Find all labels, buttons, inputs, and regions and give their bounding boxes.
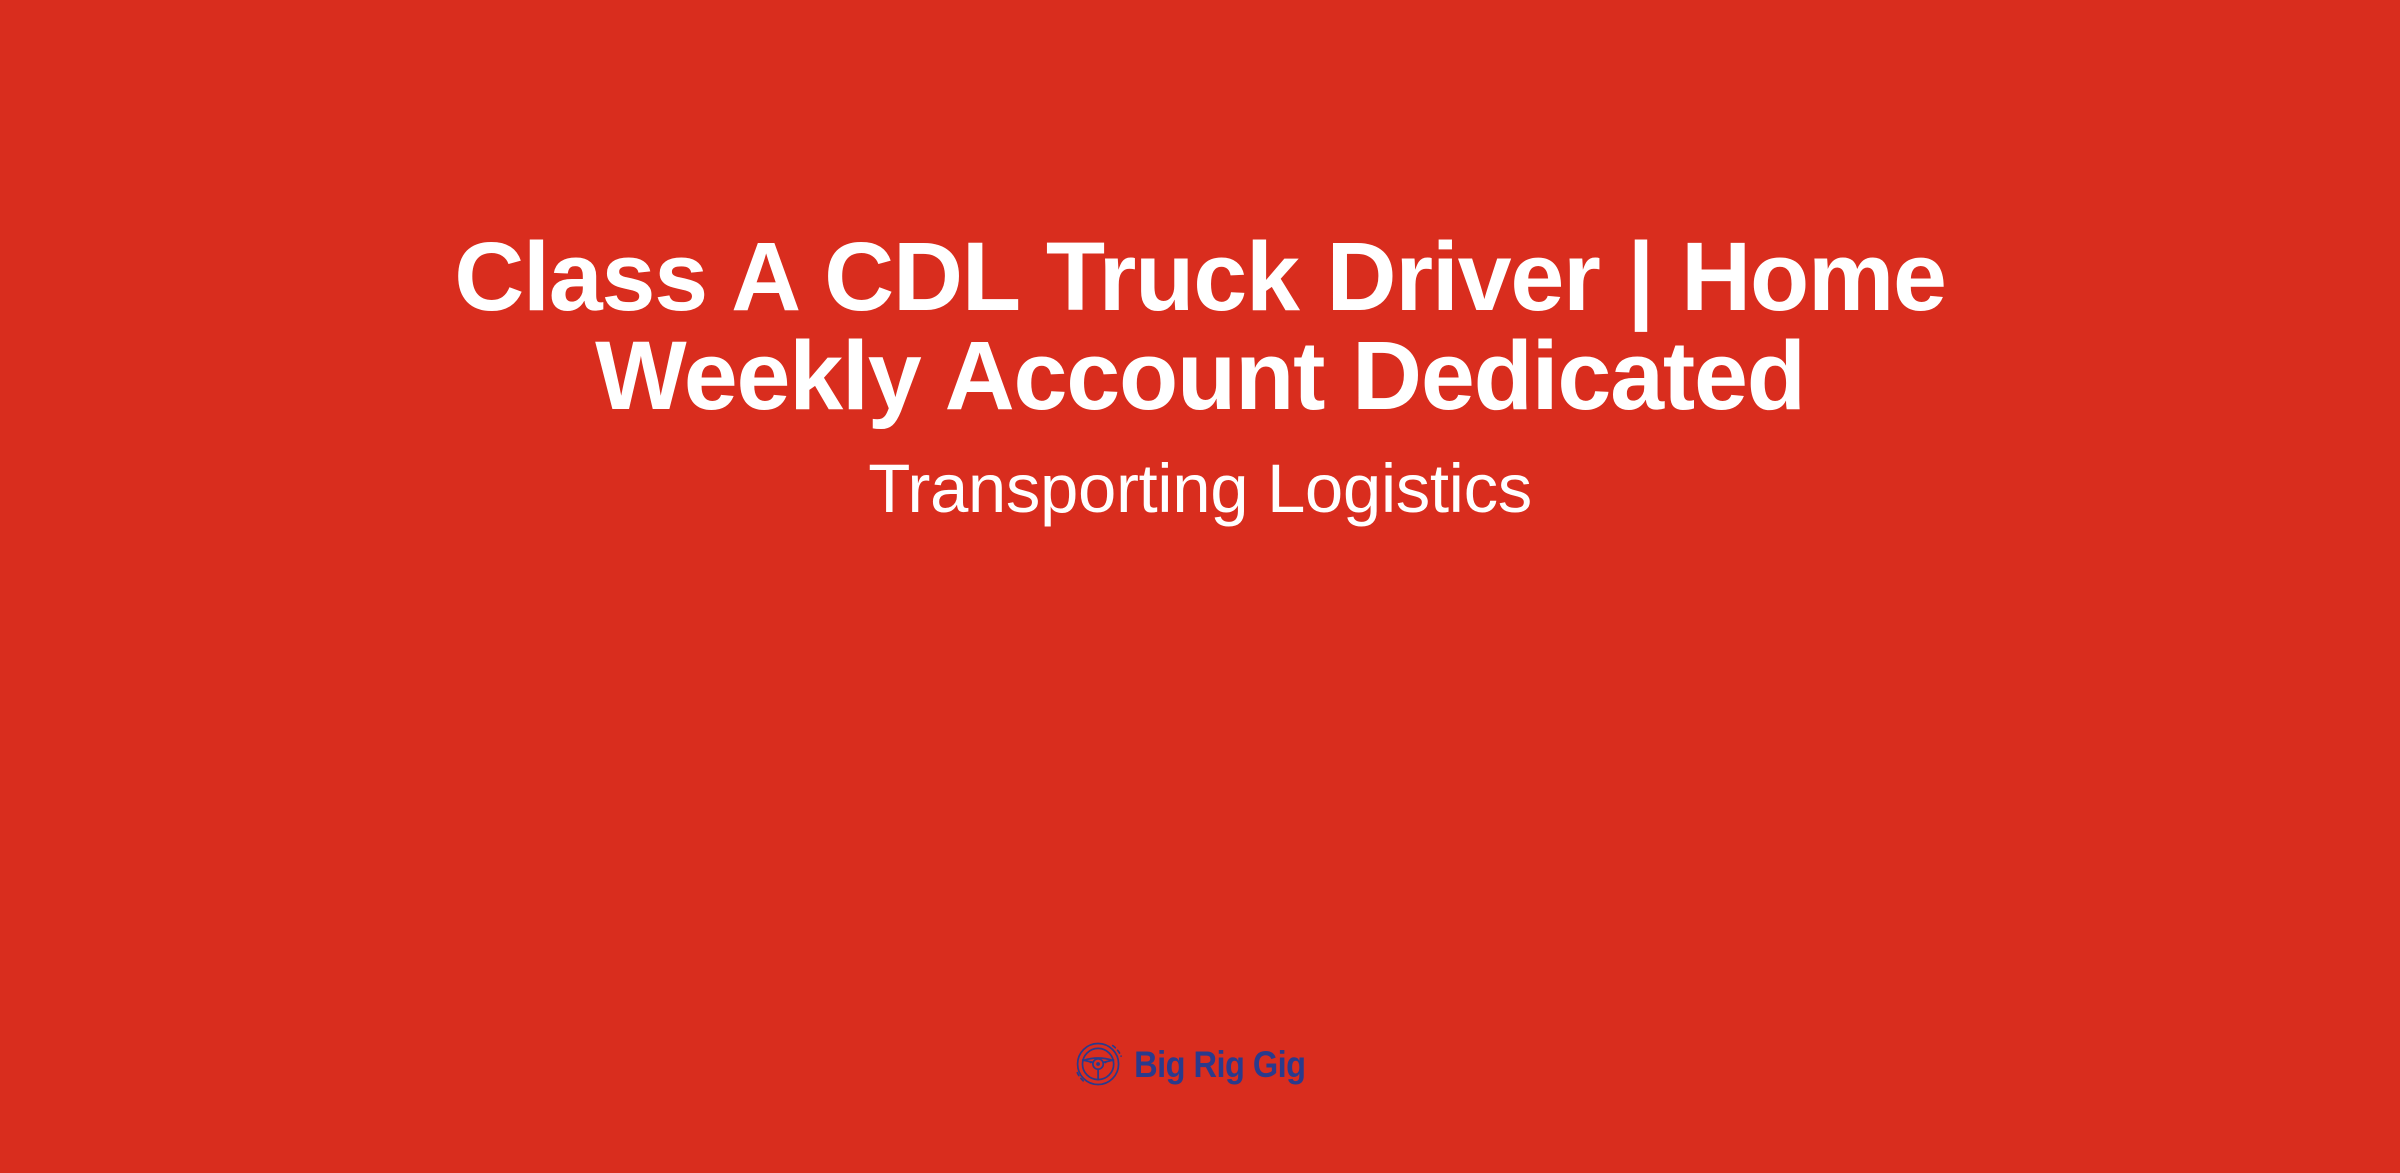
steering-wheel-icon <box>1071 1036 1127 1092</box>
page-title: Class A CDL Truck Driver | Home Weekly A… <box>450 228 1950 426</box>
og-share-card: Class A CDL Truck Driver | Home Weekly A… <box>0 0 2400 1173</box>
page-subtitle: Transporting Logistics <box>868 450 1532 527</box>
hero-text-block: Class A CDL Truck Driver | Home Weekly A… <box>450 228 1950 527</box>
brand-logo[interactable]: Big Rig Gig <box>1071 1033 1329 1095</box>
brand-name-label: Big Rig Gig <box>1134 1046 1305 1083</box>
